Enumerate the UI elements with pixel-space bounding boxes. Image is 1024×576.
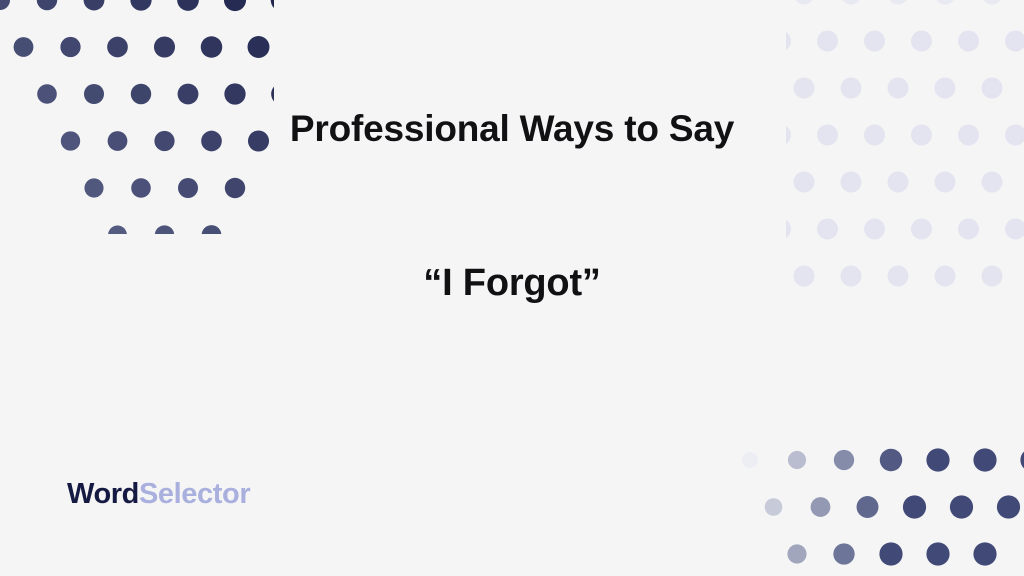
brand-logo: WordSelector bbox=[67, 480, 250, 509]
headline-block: Professional Ways to Say “I Forgot” bbox=[0, 0, 1024, 430]
brand-logo-primary: Word bbox=[67, 478, 139, 510]
halftone-dot-triangle-bottom-right-icon bbox=[736, 440, 1024, 576]
brand-logo-secondary: Selector bbox=[139, 478, 250, 510]
slide-canvas: Professional Ways to Say “I Forgot” Word… bbox=[0, 0, 1024, 576]
page-title: Professional Ways to Say bbox=[290, 110, 734, 147]
page-subtitle: “I Forgot” bbox=[423, 264, 600, 302]
